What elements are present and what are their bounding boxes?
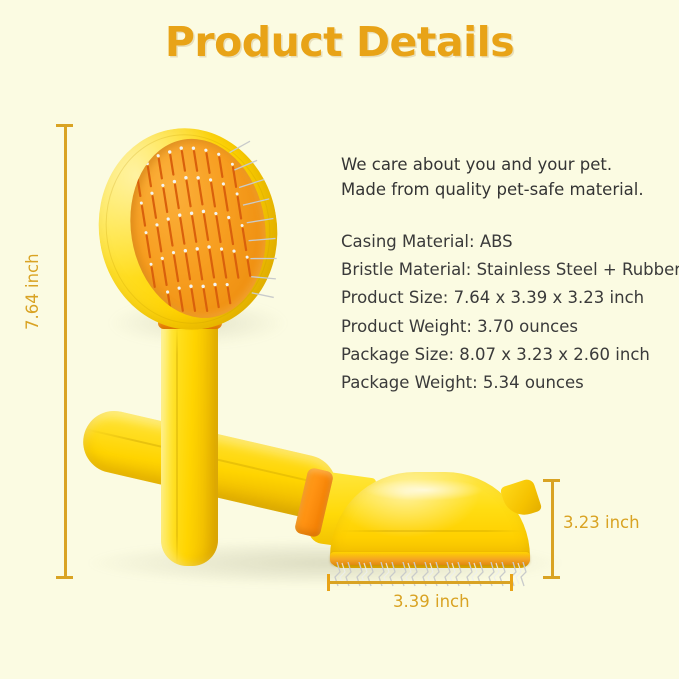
spec-list: Casing Material: ABS Bristle Material: S… [341, 228, 676, 397]
lying-head-highlight [364, 479, 484, 501]
depth-dimension-label: 3.23 inch [563, 513, 640, 532]
height-cap-top [56, 124, 73, 127]
upright-brush-head [84, 115, 291, 342]
depth-dimension-line [551, 479, 554, 579]
intro-line-2: Made from quality pet-safe material. [341, 177, 671, 202]
lying-head-seam [340, 530, 522, 532]
upright-handle-seam [176, 326, 178, 564]
spec-row-package-weight: Package Weight: 5.34 ounces [341, 369, 676, 397]
depth-cap-bottom [543, 576, 560, 579]
spec-row-package-size: Package Size: 8.07 x 3.23 x 2.60 inch [341, 341, 676, 369]
height-dimension-line [64, 124, 67, 578]
width-dimension-label: 3.39 inch [393, 592, 470, 611]
height-cap-bottom [56, 576, 73, 579]
height-dimension-label: 7.64 inch [23, 253, 42, 330]
width-cap-left [327, 574, 330, 591]
width-cap-right [510, 574, 513, 591]
lying-brush-pins [333, 562, 527, 588]
spec-row-casing-material: Casing Material: ABS [341, 228, 676, 256]
intro-text: We care about you and your pet. Made fro… [341, 152, 671, 202]
spec-row-product-size: Product Size: 7.64 x 3.39 x 3.23 inch [341, 284, 676, 312]
width-dimension-line [327, 581, 512, 584]
upright-brush-handle [161, 318, 218, 566]
spec-row-bristle-material: Bristle Material: Stainless Steel + Rubb… [341, 256, 676, 284]
intro-line-1: We care about you and your pet. [341, 152, 671, 177]
spec-row-product-weight: Product Weight: 3.70 ounces [341, 313, 676, 341]
depth-cap-top [543, 479, 560, 482]
product-details-infographic: Product Details [0, 0, 679, 679]
